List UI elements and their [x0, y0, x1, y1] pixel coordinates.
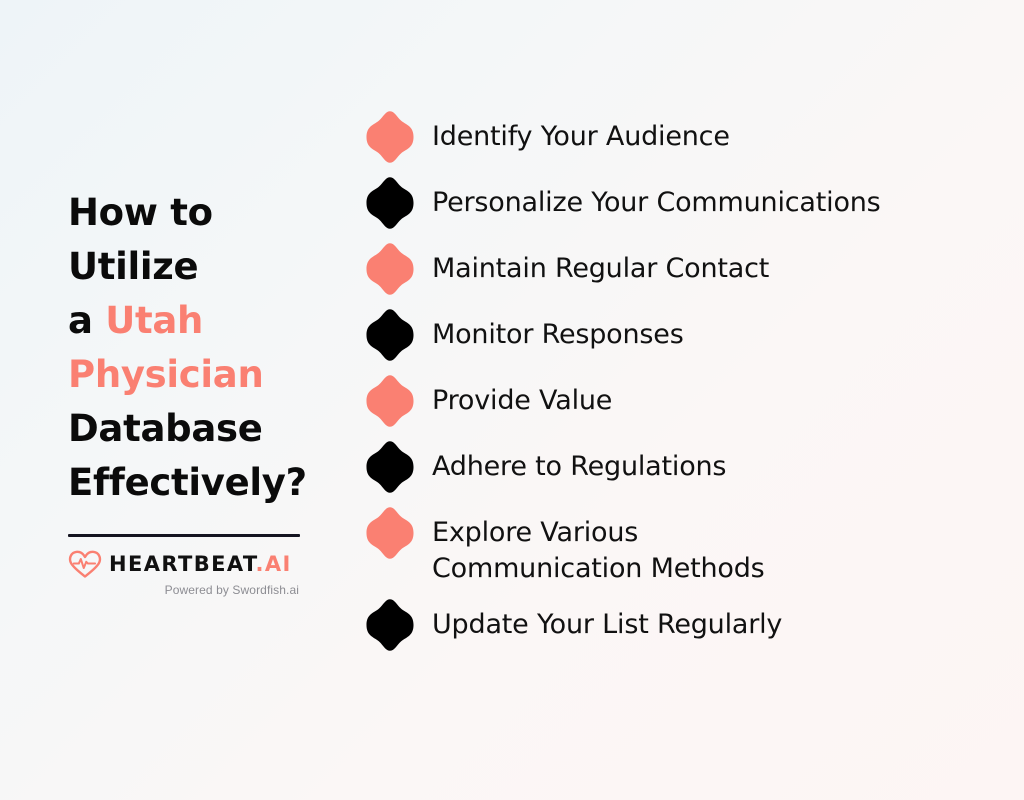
- headline-line-2: Utilize: [68, 245, 198, 288]
- logo-tagline: Powered by Swordfish.ai: [68, 584, 300, 596]
- list-item: Maintain Regular Contact: [362, 244, 982, 297]
- list-item: Personalize Your Communications: [362, 178, 982, 231]
- bullet-shape-4: [366, 375, 413, 427]
- list-item-label: Personalize Your Communications: [432, 178, 881, 221]
- headline-accent-profession: Physician: [68, 353, 264, 396]
- list-item: Update Your List Regularly: [362, 600, 982, 653]
- quatrefoil-bullet-icon: [362, 373, 418, 429]
- list-item-label: Maintain Regular Contact: [432, 244, 769, 287]
- list-item: Explore Various Communication Methods: [362, 508, 982, 587]
- heart-pulse-icon: [68, 549, 102, 579]
- list-item: Adhere to Regulations: [362, 442, 982, 495]
- brand-logo: HEARTBEAT.AI Powered by Swordfish.ai: [68, 549, 300, 596]
- list-item-label: Provide Value: [432, 376, 612, 419]
- infographic-root: How to Utilize a Utah Physician Database…: [0, 0, 1024, 800]
- headline-accent-state: Utah: [105, 299, 203, 342]
- logo-wordmark: HEARTBEAT.AI: [109, 554, 292, 575]
- headline-line-5: Database: [68, 407, 263, 450]
- bullet-shape-3: [366, 309, 413, 361]
- list-item-label: Monitor Responses: [432, 310, 684, 353]
- list-item-label: Update Your List Regularly: [432, 600, 782, 643]
- list-item: Monitor Responses: [362, 310, 982, 363]
- list-item-label: Explore Various Communication Methods: [432, 508, 765, 587]
- quatrefoil-bullet-icon: [362, 241, 418, 297]
- bullet-shape-1: [366, 177, 413, 229]
- bullet-shape-7: [366, 599, 413, 651]
- quatrefoil-bullet-icon: [362, 597, 418, 653]
- quatrefoil-bullet-icon: [362, 175, 418, 231]
- quatrefoil-bullet-icon: [362, 109, 418, 165]
- bullet-shape-2: [366, 243, 413, 295]
- logo-wordmark-suffix: .AI: [255, 552, 291, 576]
- page-title: How to Utilize a Utah Physician Database…: [68, 186, 328, 510]
- headline-line-1: How to: [68, 191, 213, 234]
- list-item-label: Identify Your Audience: [432, 112, 730, 155]
- headline-line-3-prefix: a: [68, 299, 105, 342]
- headline-line-6: Effectively?: [68, 461, 307, 504]
- quatrefoil-bullet-icon: [362, 307, 418, 363]
- divider: [68, 534, 300, 537]
- quatrefoil-bullet-icon: [362, 505, 418, 561]
- list-item: Provide Value: [362, 376, 982, 429]
- list-item: Identify Your Audience: [362, 112, 982, 165]
- logo-wordmark-main: HEARTBEAT: [109, 552, 255, 576]
- list-item-label: Adhere to Regulations: [432, 442, 726, 485]
- tips-list: Identify Your Audience Personalize Your …: [362, 112, 982, 666]
- logo-lockup: HEARTBEAT.AI: [68, 549, 300, 579]
- bullet-shape-0: [366, 111, 413, 163]
- bullet-shape-5: [366, 441, 413, 493]
- bullet-shape-6: [366, 507, 413, 559]
- quatrefoil-bullet-icon: [362, 439, 418, 495]
- headline-column: How to Utilize a Utah Physician Database…: [68, 186, 328, 596]
